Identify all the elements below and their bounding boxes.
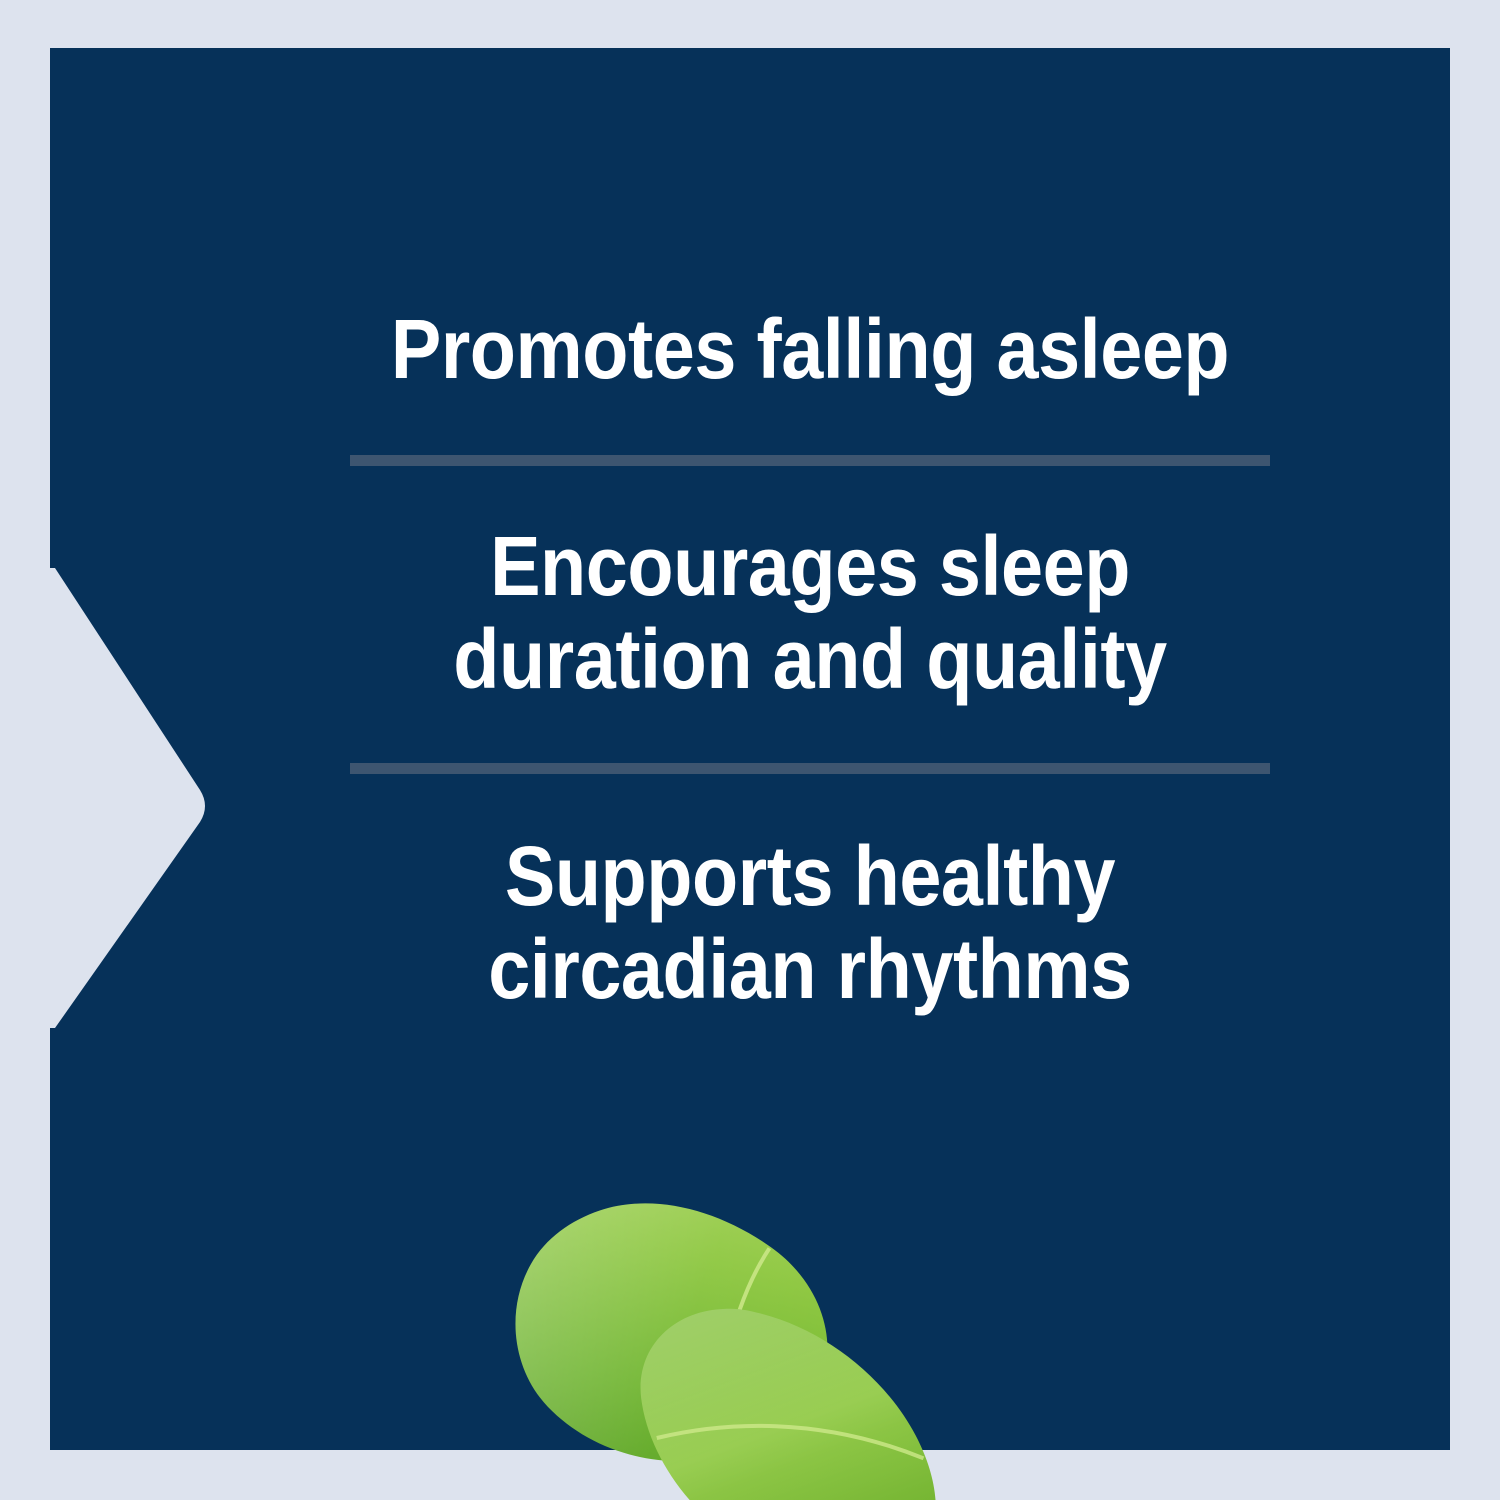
benefit-item-2: Encourages sleep duration and quality — [261, 466, 1359, 763]
benefits-divider-2 — [350, 763, 1270, 774]
benefit-item-1: Promotes falling asleep — [261, 303, 1359, 455]
product-benefits-graphic: Promotes falling asleep Encourages sleep… — [0, 0, 1500, 1500]
benefit-item-3: Supports healthy circadian rhythms — [261, 774, 1359, 1015]
benefits-list: Promotes falling asleep Encourages sleep… — [200, 303, 1420, 1015]
navy-panel: Promotes falling asleep Encourages sleep… — [50, 48, 1450, 1450]
benefits-divider-1 — [350, 455, 1270, 466]
